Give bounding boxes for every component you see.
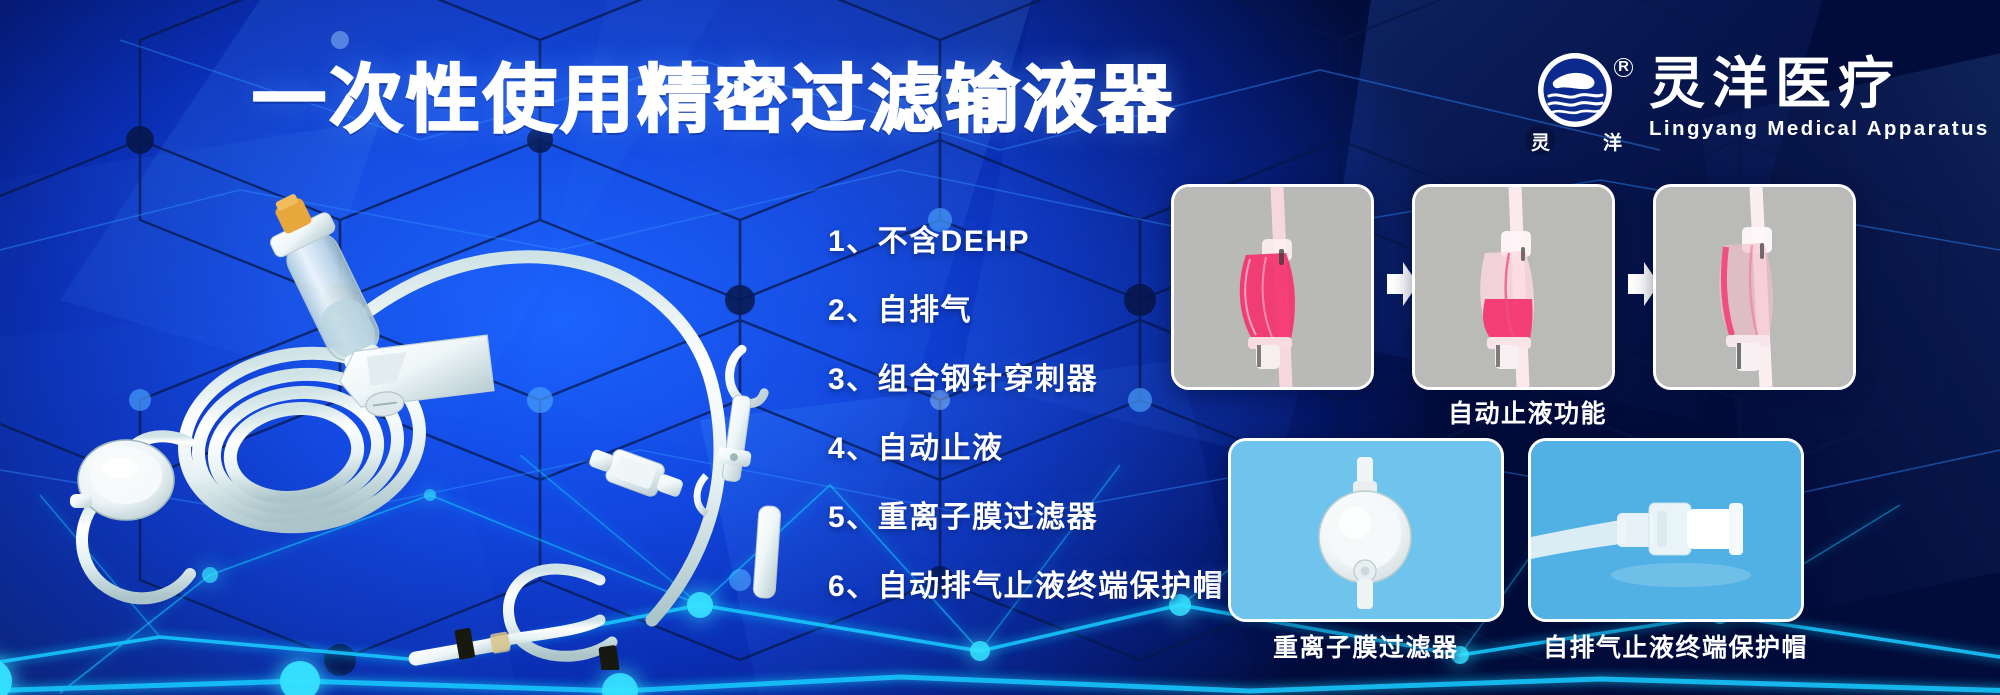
feature-item-5: 5、重离子膜过滤器 [828,492,1224,536]
auto-stop-photo-3 [1653,184,1856,390]
feature-item-3: 3、组合钢针穿刺器 [828,354,1224,398]
registered-trademark-icon: R [1614,58,1633,77]
product-banner: 一次性使用精密过滤输液器 R 灵 洋 灵洋医疗 Lingyang Medical… [0,0,2000,695]
caption-terminal-cap: 自排气止液终端保护帽 [1543,628,1808,664]
company-name-cn: 灵洋医疗 [1649,55,1990,112]
feature-item-4: 4、自动止液 [828,423,1224,467]
auto-stop-photo-1 [1171,184,1374,390]
feature-list: 1、不含DEHP 2、自排气 3、组合钢针穿刺器 4、自动止液 5、重离子膜过滤… [828,216,1224,605]
detail-photo-heavy-ion-filter [1228,438,1504,622]
lingyang-emblem-icon: R 灵 洋 [1525,46,1629,150]
detail-photo-terminal-cap [1528,438,1804,622]
feature-item-6: 6、自动排气止液终端保护帽 [828,561,1224,605]
company-name-en: Lingyang Medical Apparatus [1649,117,1990,141]
caption-auto-stop: 自动止液功能 [1448,394,1607,430]
feature-item-2: 2、自排气 [828,285,1224,329]
page-title: 一次性使用精密过滤输液器 [252,40,1176,147]
brand-logo[interactable]: R 灵 洋 灵洋医疗 Lingyang Medical Apparatus [1525,46,1990,150]
caption-heavy-ion-filter: 重离子膜过滤器 [1273,628,1459,664]
emblem-sub-left: 灵 [1531,128,1551,155]
feature-item-1: 1、不含DEHP [828,216,1224,260]
auto-stop-photo-2 [1412,184,1615,390]
product-photo [40,150,800,670]
emblem-sub-right: 洋 [1603,128,1623,155]
